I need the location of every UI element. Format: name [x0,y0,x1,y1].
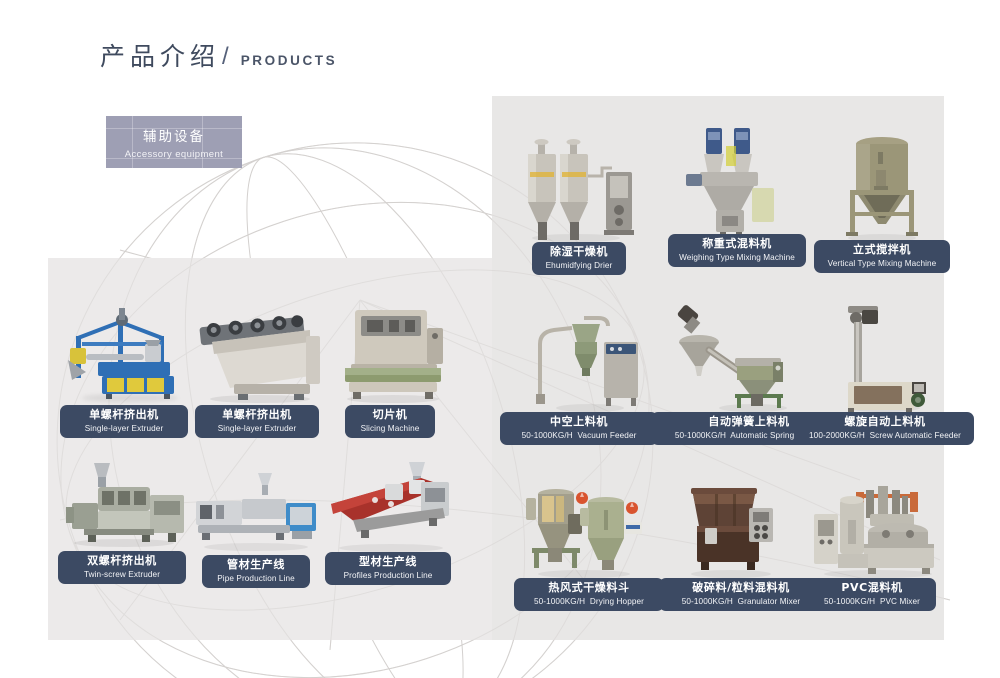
label-cn: 立式搅拌机 [824,244,940,257]
label-single-layer-extruder-1[interactable]: 单螺杆挤出机 Single-layer Extruder [60,405,188,438]
label-en: Profiles Production Line [335,571,441,580]
label-vertical-mixing-machine[interactable]: 立式搅拌机 Vertical Type Mixing Machine [814,240,950,273]
label-pvc-mixer[interactable]: PVC混料机 50-1000KG/H PVC Mixer [808,578,936,611]
category-badge-en: Accessory equipment [125,149,223,160]
label-cn: 型材生产线 [335,556,441,569]
product-twin-screw-extruder[interactable]: 双螺杆挤出机 Twin-screw Extruder [58,445,190,555]
label-pipe-production-line[interactable]: 管材生产线 Pipe Production Line [202,555,310,588]
twin-screw-extruder-icon [58,445,190,550]
vertical-mixer-tank-icon [832,126,932,244]
label-en: 100-2000KG/H Screw Automatic Feeder [806,431,964,440]
red-profile-line-icon [325,448,455,556]
label-cn: 除湿干燥机 [542,246,616,259]
product-granulator-mixer[interactable]: 破碎料/粒料混料机 50-1000KG/H Granulator Mixer [675,470,787,586]
label-cn: 中空上料机 [510,416,648,429]
label-cn: 破碎料/粒料混料机 [669,582,813,595]
product-catalog-page: 产品介绍 / PRODUCTS 辅助设备 Accessory equipment [0,0,1000,678]
label-screw-automatic-feeder[interactable]: 螺旋自动上料机 100-2000KG/H Screw Automatic Fee… [796,412,974,445]
product-pipe-production-line[interactable]: 管材生产线 Pipe Production Line [188,455,324,557]
title-slash: / [222,45,229,69]
label-en: Twin-screw Extruder [68,570,176,579]
category-badge-cn: 辅助设备 [143,125,205,145]
label-en: Vertical Type Mixing Machine [824,259,940,268]
label-dehumidifying-drier[interactable]: 除湿干燥机 Ehumidfying Drier [532,242,626,275]
label-en: Single-layer Extruder [70,424,178,433]
label-vacuum-feeder[interactable]: 中空上料机 50-1000KG/H Vacuum Feeder [500,412,658,445]
twin-silo-drier-icon [518,128,638,244]
label-en: Slicing Machine [355,424,425,433]
label-granulator-mixer[interactable]: 破碎料/粒料混料机 50-1000KG/H Granulator Mixer [659,578,823,611]
label-cn: 单螺杆挤出机 [70,409,178,422]
label-en: Ehumidfying Drier [542,261,616,270]
product-weighing-mixing-machine[interactable]: 称重式混料机 Weighing Type Mixing Machine [682,120,792,254]
product-vacuum-feeder[interactable]: 中空上料机 50-1000KG/H Vacuum Feeder [528,302,640,424]
product-screw-automatic-feeder[interactable]: 螺旋自动上料机 100-2000KG/H Screw Automatic Fee… [826,300,938,424]
label-en: 50-1000KG/H Granulator Mixer [669,597,813,606]
label-cn: 称重式混料机 [678,238,796,251]
label-profiles-production-line[interactable]: 型材生产线 Profiles Production Line [325,552,451,585]
label-en: Single-layer Extruder [205,424,309,433]
product-pvc-mixer[interactable]: PVC混料机 50-1000KG/H PVC Mixer [812,470,942,586]
roller-calender-line-icon [190,300,325,405]
product-profiles-production-line[interactable]: 型材生产线 Profiles Production Line [325,448,455,558]
page-title: 产品介绍 / PRODUCTS [100,44,337,69]
label-cn: 螺旋自动上料机 [806,416,964,429]
blue-yellow-extruder-icon [60,300,190,405]
label-en: Pipe Production Line [212,574,300,583]
label-slicing-machine[interactable]: 切片机 Slicing Machine [345,405,435,438]
label-cn: 热风式干燥料斗 [524,582,654,595]
product-slicing-machine[interactable]: 切片机 Slicing Machine [327,298,453,410]
spring-feeder-icon [665,300,793,414]
label-cn: 切片机 [355,409,425,422]
page-title-cn: 产品介绍 [100,44,220,69]
product-single-layer-extruder-2[interactable]: 单螺杆挤出机 Single-layer Extruder [190,300,325,410]
page-title-en: PRODUCTS [241,54,338,70]
label-twin-screw-extruder[interactable]: 双螺杆挤出机 Twin-screw Extruder [58,551,186,584]
label-cn: 单螺杆挤出机 [205,409,309,422]
category-badge-accessory-equipment[interactable]: 辅助设备 Accessory equipment [106,116,242,168]
gravimetric-blender-icon [682,120,792,244]
vacuum-feeder-icon [528,302,640,414]
label-drying-hopper[interactable]: 热风式干燥料斗 50-1000KG/H Drying Hopper [514,578,664,611]
label-cn: 双螺杆挤出机 [68,555,176,568]
screw-feeder-icon [826,300,938,414]
product-automatic-spring-feeder[interactable]: 自动弹簧上料机 50-1000KG/H Automatic Spring Fee… [665,300,793,424]
label-en: 50-1000KG/H Drying Hopper [524,597,654,606]
label-cn: 管材生产线 [212,559,300,572]
granulator-mixer-icon [675,470,787,580]
product-vertical-mixing-machine[interactable]: 立式搅拌机 Vertical Type Mixing Machine [832,126,932,254]
pvc-mixer-unit-icon [812,470,942,580]
product-drying-hopper[interactable]: 热风式干燥料斗 50-1000KG/H Drying Hopper [524,468,648,586]
label-weighing-mixing-machine[interactable]: 称重式混料机 Weighing Type Mixing Machine [668,234,806,267]
label-en: Weighing Type Mixing Machine [678,253,796,262]
product-dehumidifying-drier[interactable]: 除湿干燥机 Ehumidfying Drier [518,128,638,254]
drying-hopper-icon [524,468,648,580]
label-cn: PVC混料机 [818,582,926,595]
product-single-layer-extruder-1[interactable]: 单螺杆挤出机 Single-layer Extruder [60,300,190,410]
pipe-line-icon [188,455,324,555]
slicing-machine-icon [327,298,453,406]
label-single-layer-extruder-2[interactable]: 单螺杆挤出机 Single-layer Extruder [195,405,319,438]
label-en: 50-1000KG/H Vacuum Feeder [510,431,648,440]
label-en: 50-1000KG/H PVC Mixer [818,597,926,606]
